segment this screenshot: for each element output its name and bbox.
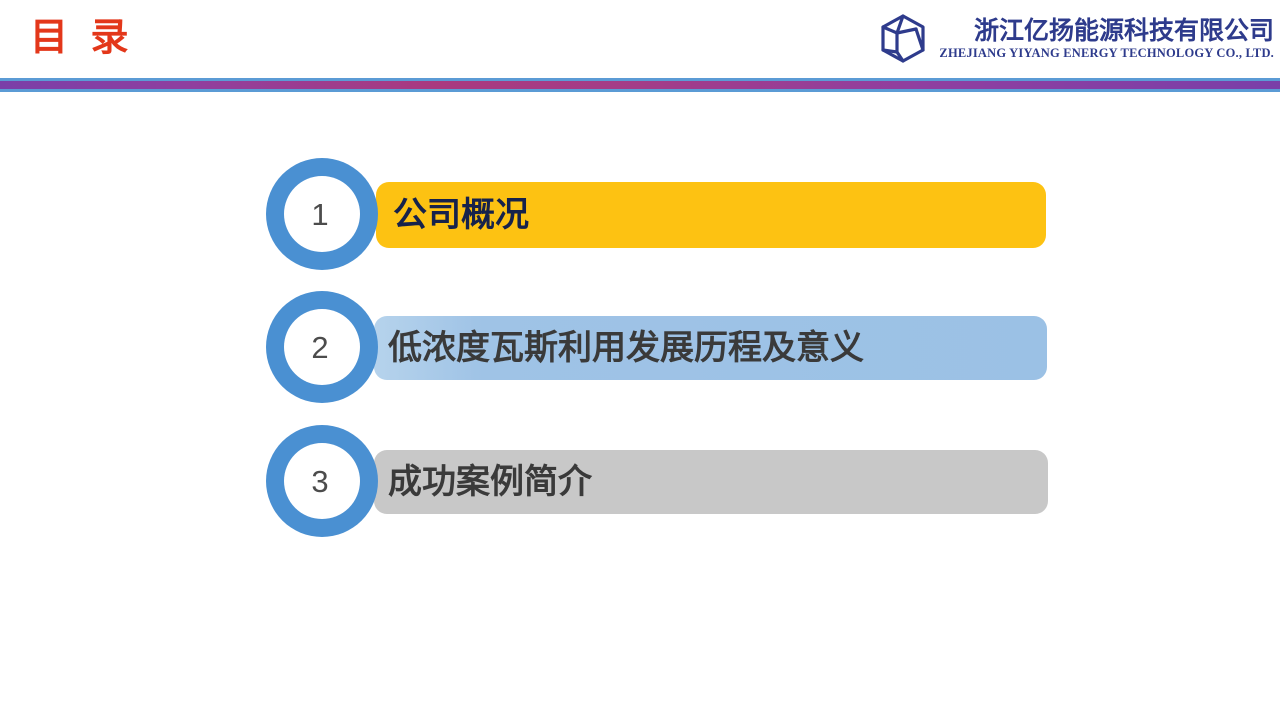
slide-header: 目 录 浙江亿扬能源科技有限公司 ZHEJIANG YIYANG ENERGY … [0,0,1280,78]
toc-item-3-label: 成功案例简介 [388,465,592,499]
table-of-contents: 公司概况 1 低浓度瓦斯利用发展历程及意义 2 成功案例简介 3 [0,92,1280,720]
page-title: 目 录 [30,13,135,63]
header-separator [0,78,1280,92]
toc-item-2[interactable]: 低浓度瓦斯利用发展历程及意义 2 [264,291,1054,403]
toc-item-3-number: 3 [282,443,358,519]
toc-item-2-label: 低浓度瓦斯利用发展历程及意义 [388,331,864,365]
company-name-cn: 浙江亿扬能源科技有限公司 [974,19,1274,44]
toc-item-1-badge: 1 [264,158,396,270]
company-name-en: ZHEJIANG YIYANG ENERGY TECHNOLOGY CO., L… [939,47,1274,60]
separator-inner-band [0,81,1280,89]
toc-item-3-badge: 3 [264,425,396,537]
toc-item-3[interactable]: 成功案例简介 3 [264,425,1054,537]
toc-item-1[interactable]: 公司概况 1 [264,158,1054,270]
company-logo: 浙江亿扬能源科技有限公司 ZHEJIANG YIYANG ENERGY TECH… [875,6,1274,72]
toc-item-1-number: 1 [282,176,358,252]
logo-text-block: 浙江亿扬能源科技有限公司 ZHEJIANG YIYANG ENERGY TECH… [939,19,1274,60]
toc-item-2-number: 2 [282,309,358,385]
hexagon-cube-logo-icon [875,11,931,67]
toc-item-1-label: 公司概况 [393,198,529,232]
toc-item-2-badge: 2 [264,291,396,403]
